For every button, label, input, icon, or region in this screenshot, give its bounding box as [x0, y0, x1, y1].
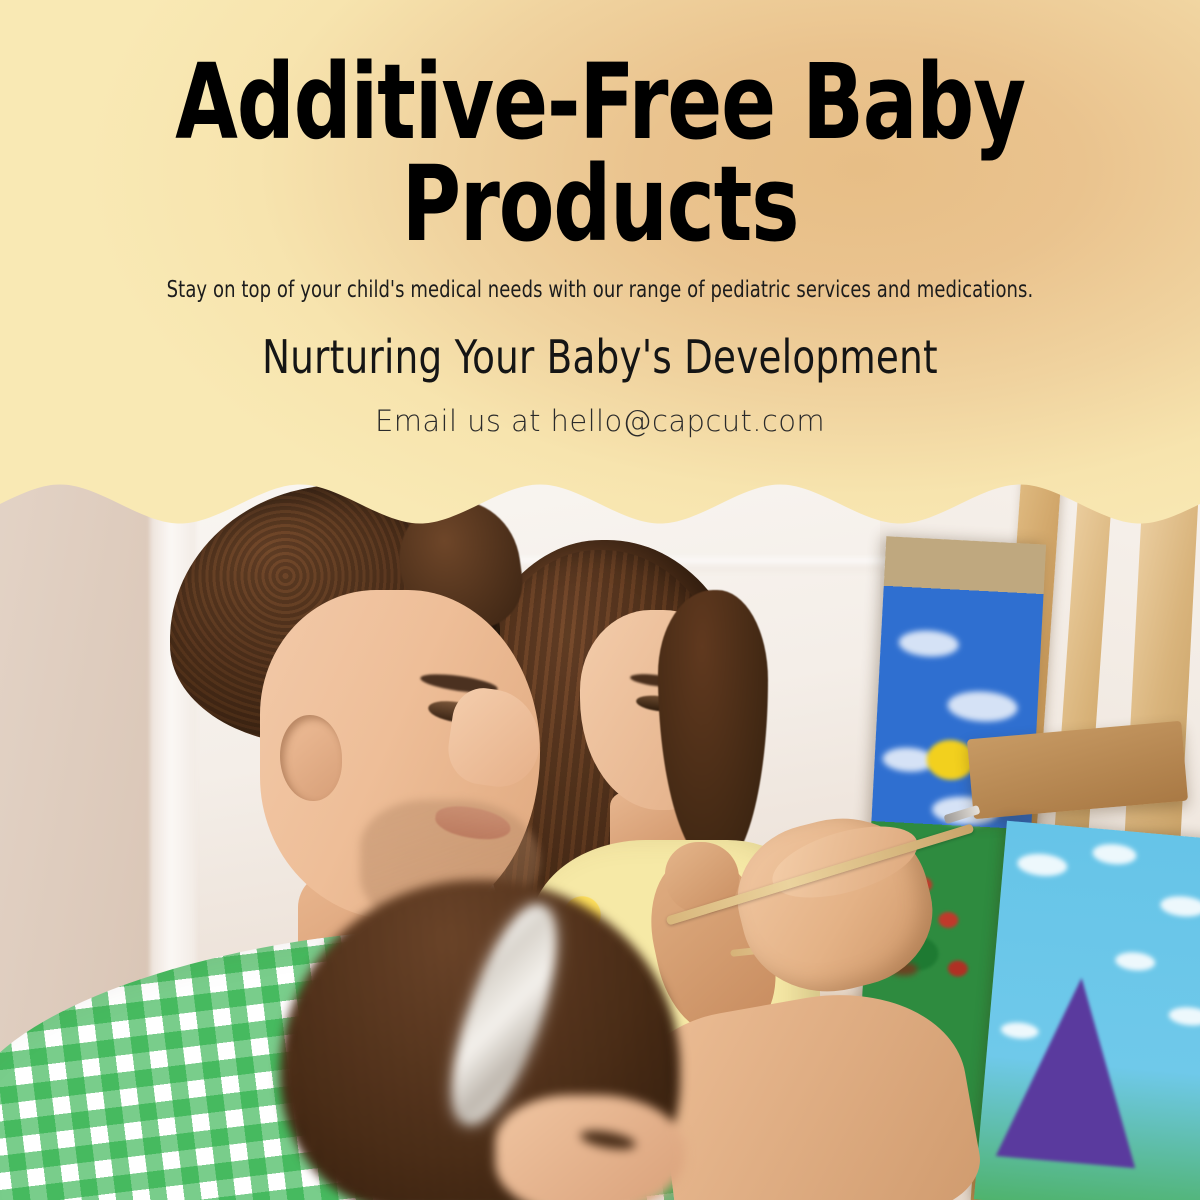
page-title: Additive-Free Baby Products [132, 52, 1068, 256]
contact-email: Email us at hello@capcut.com [0, 404, 1200, 438]
cloud-shape [898, 629, 959, 658]
cloud-shape [1016, 852, 1068, 878]
poster-canvas: Additive-Free Baby Products Stay on top … [0, 0, 1200, 1200]
cloud-shape [947, 690, 1018, 724]
cloud-shape [1092, 842, 1138, 866]
man-ear [280, 715, 342, 801]
child-foreground [280, 880, 700, 1200]
cloud-shape [1168, 1006, 1200, 1028]
child-face [495, 1095, 685, 1200]
flower-shape [938, 911, 959, 928]
page-tagline: Nurturing Your Baby's Development [60, 330, 1140, 384]
cloud-shape [1115, 951, 1156, 972]
cloud-shape [1159, 894, 1200, 918]
canvas-painting-mountain [974, 821, 1200, 1200]
flower-shape [947, 960, 968, 977]
mountain-shape [996, 972, 1152, 1168]
page-subtitle: Stay on top of your child's medical need… [78, 277, 1122, 303]
header-banner: Additive-Free Baby Products Stay on top … [0, 0, 1200, 560]
